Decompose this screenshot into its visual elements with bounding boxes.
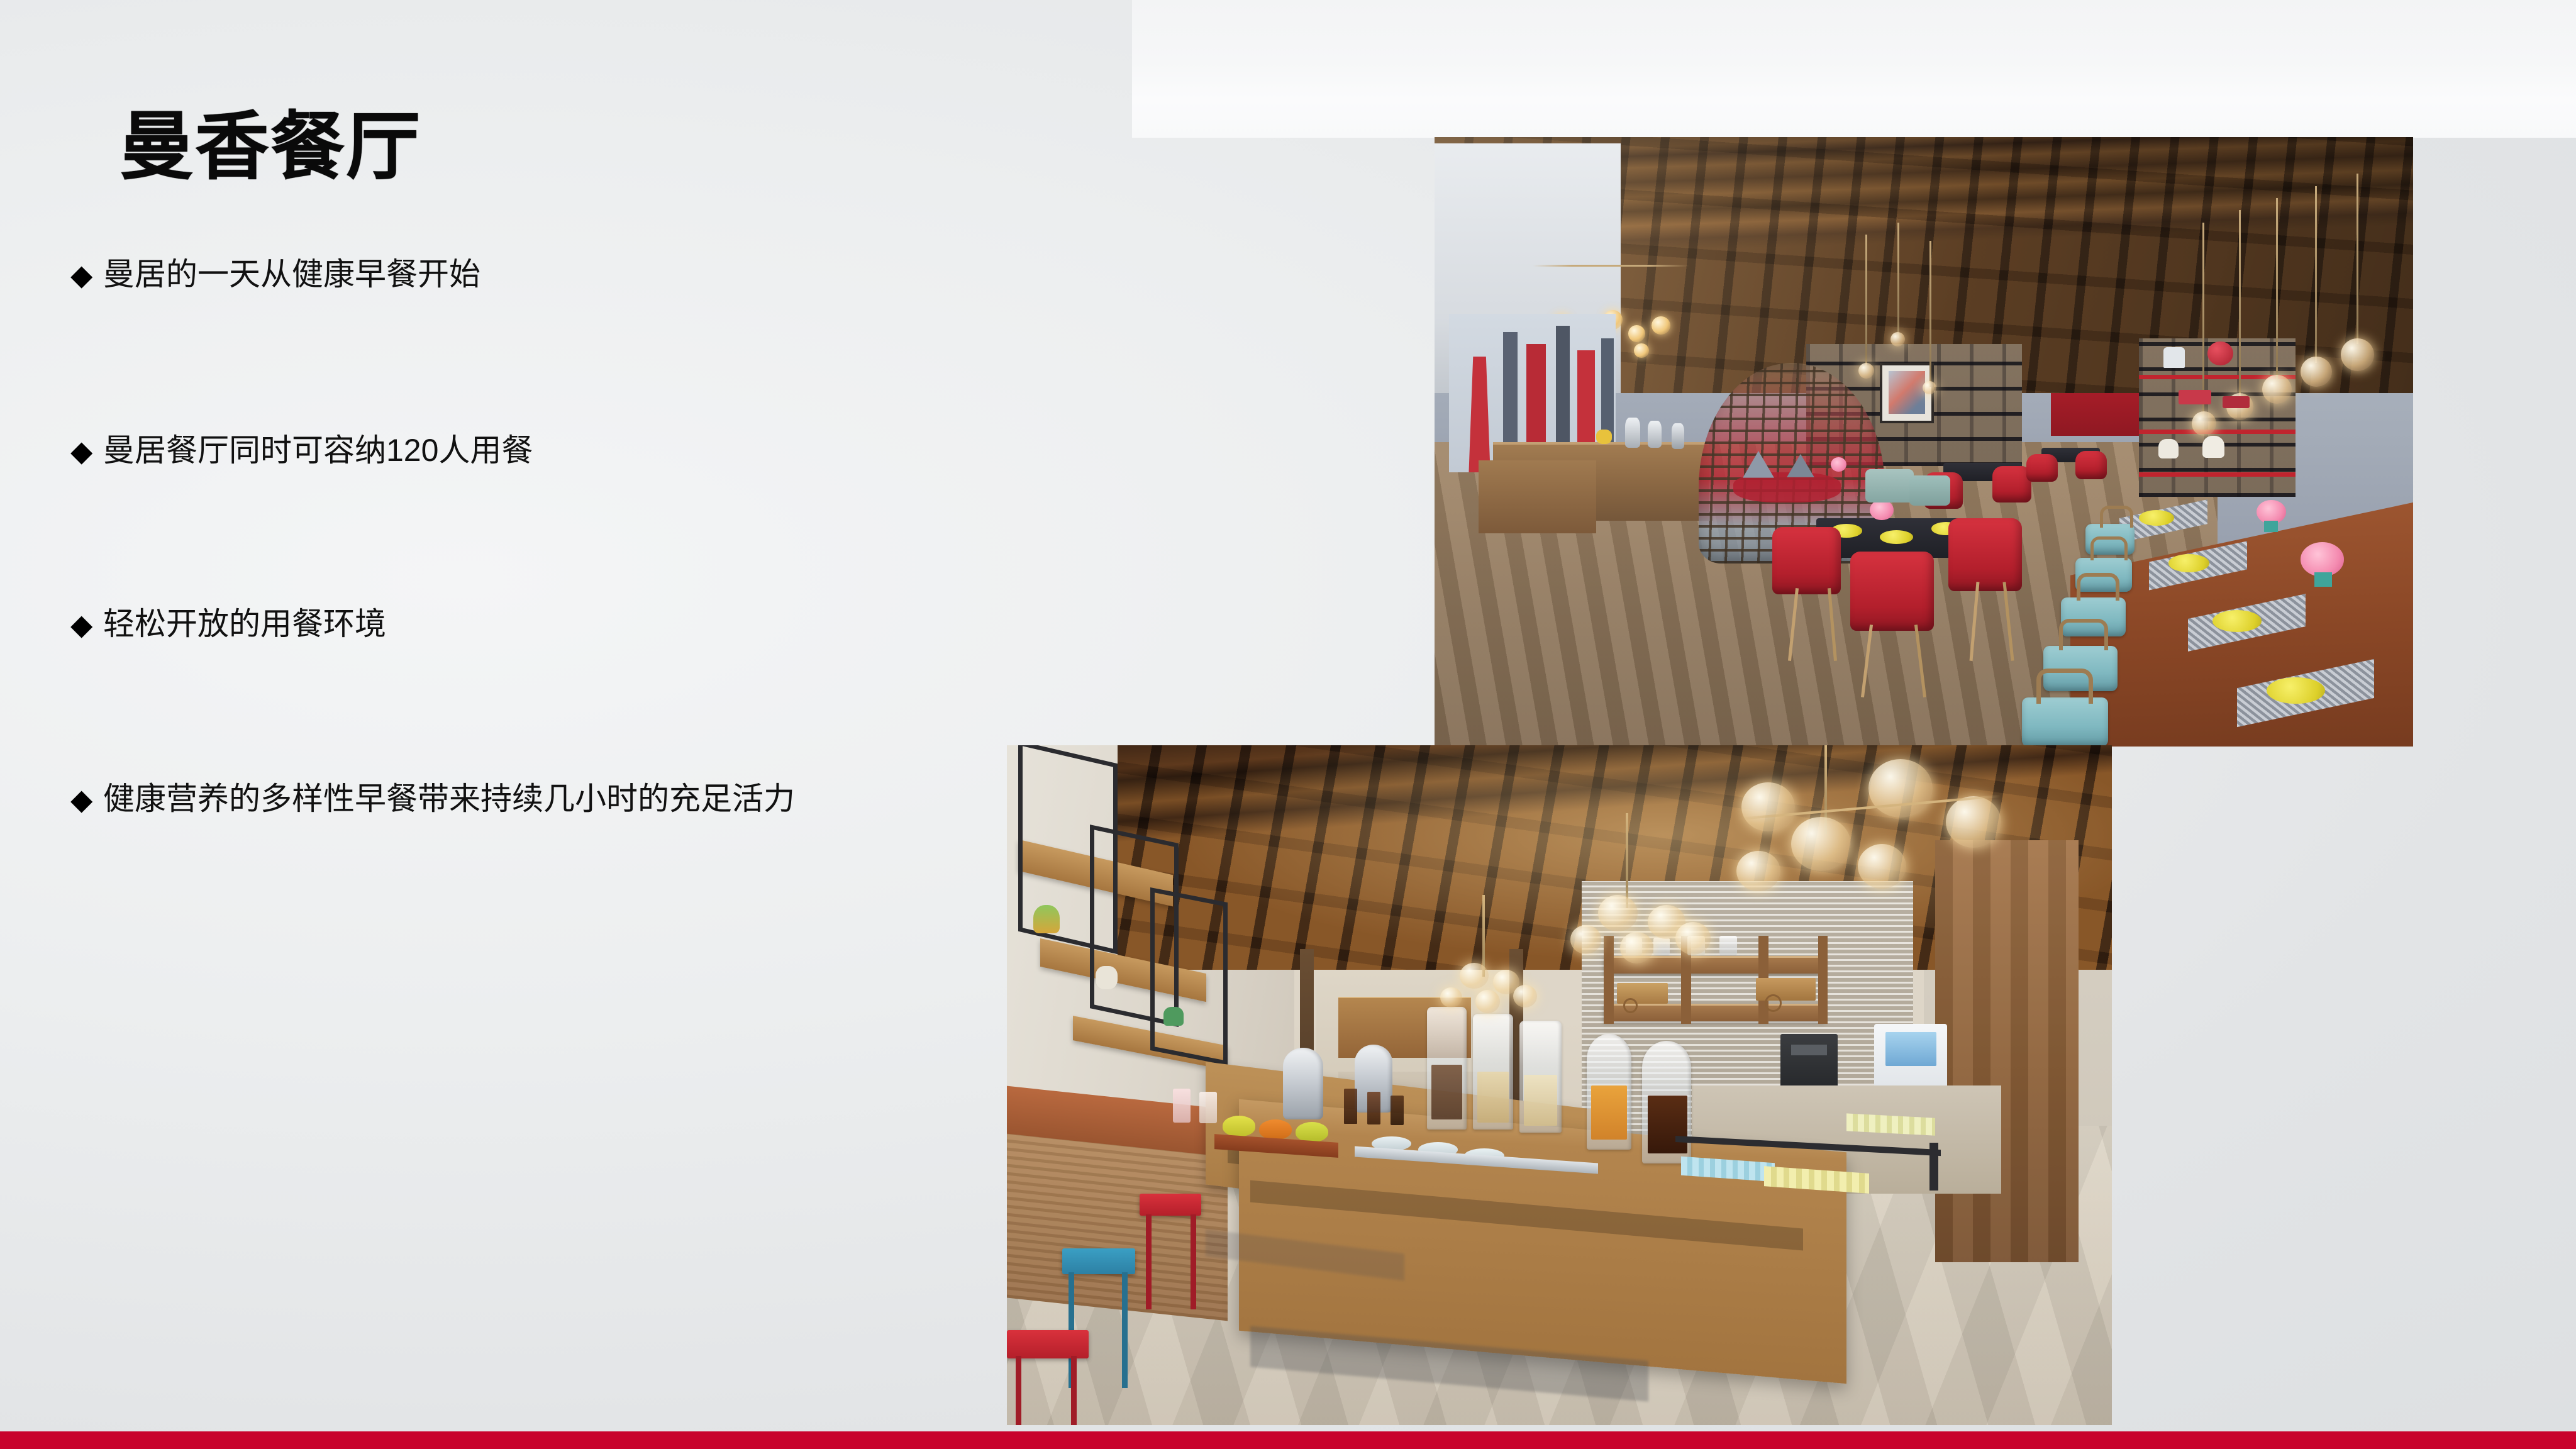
bullet-item-2: ◆曼居餐厅同时可容纳120人用餐 bbox=[70, 430, 1001, 470]
diamond-bullet-icon: ◆ bbox=[70, 781, 103, 818]
bullet-text-1: 曼居的一天从健康早餐开始 bbox=[103, 257, 480, 292]
bullet-text-3: 轻松开放的用餐环境 bbox=[103, 606, 386, 641]
diamond-bullet-icon: ◆ bbox=[70, 257, 103, 294]
diamond-bullet-icon: ◆ bbox=[70, 606, 103, 643]
bullet-item-3: ◆轻松开放的用餐环境 bbox=[70, 604, 1001, 644]
breakfast-buffet-photo bbox=[1007, 745, 2112, 1425]
presentation-slide: 曼香餐厅 ◆曼居的一天从健康早餐开始 ◆曼居餐厅同时可容纳120人用餐 ◆轻松开… bbox=[0, 0, 2576, 1449]
page-title: 曼香餐厅 bbox=[119, 106, 421, 189]
bullet-text-4: 健康营养的多样性早餐带来持续几小时的充足活力 bbox=[103, 781, 795, 816]
footer-accent-bar bbox=[0, 1431, 2576, 1449]
restaurant-dining-photo bbox=[1435, 137, 2413, 747]
bullet-item-1: ◆曼居的一天从健康早餐开始 bbox=[70, 254, 1001, 294]
bullet-text-2: 曼居餐厅同时可容纳120人用餐 bbox=[103, 433, 533, 468]
bullet-item-4: ◆健康营养的多样性早餐带来持续几小时的充足活力 bbox=[70, 779, 1001, 819]
white-panel-overlay bbox=[1132, 0, 2576, 138]
diamond-bullet-icon: ◆ bbox=[70, 433, 103, 470]
